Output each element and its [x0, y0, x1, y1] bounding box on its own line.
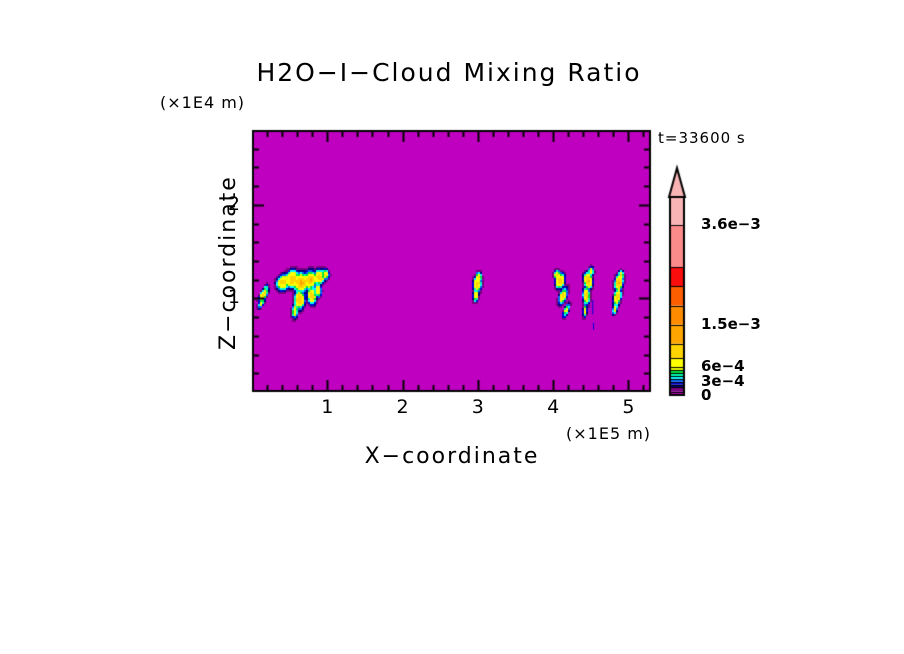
- y-tick-label: 1: [200, 286, 240, 308]
- time-annotation: t=33600 s: [658, 129, 746, 147]
- x-tick-label: 3: [458, 396, 498, 418]
- x-tick-label: 1: [307, 396, 347, 418]
- page-title-text: H2O−I−Cloud Mixing Ratio: [256, 58, 641, 87]
- x-tick-label: 2: [383, 396, 423, 418]
- z-axis-units-label: (×1E4 m): [160, 93, 245, 112]
- x-axis-units-label: (×1E5 m): [566, 424, 651, 443]
- x-tick-label: 5: [608, 396, 648, 418]
- colorbar-tick-label: 1.5e−3: [701, 315, 761, 333]
- x-axis-title: X−coordinate: [252, 444, 652, 469]
- x-tick-label: 4: [533, 396, 573, 418]
- page-title: H2O−I−Cloud Mixing Ratio: [0, 58, 904, 87]
- colorbar-tick-label: 0: [701, 386, 711, 404]
- colorbar-tick-label: 3.6e−3: [701, 215, 761, 233]
- contour-plot-canvas: [0, 0, 904, 654]
- y-tick-label: 2: [200, 193, 240, 215]
